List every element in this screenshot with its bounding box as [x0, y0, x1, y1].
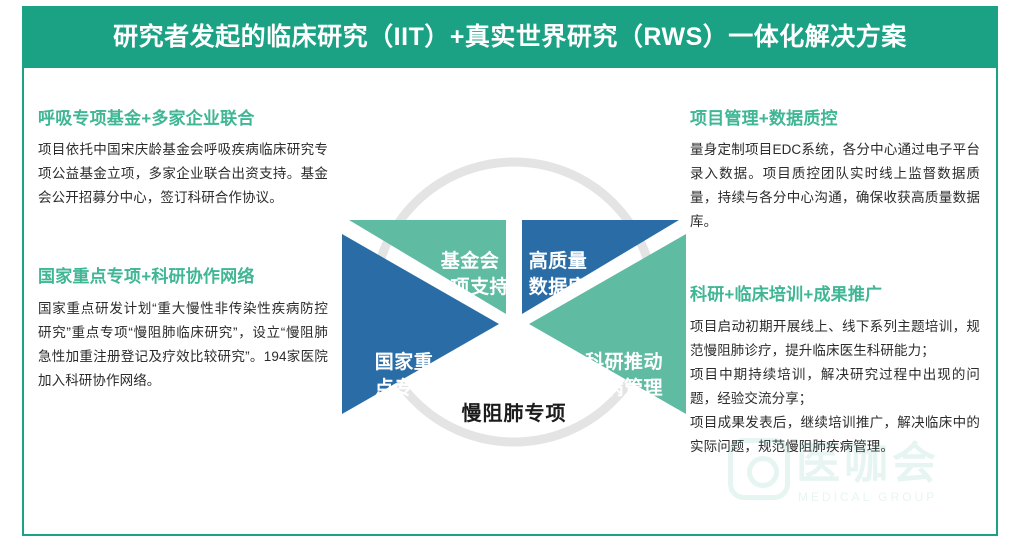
block-body: 项目启动初期开展线上、线下系列主题培训，规范慢阻肺诊疗，提升临床医生科研能力； … [690, 315, 980, 459]
infographic-frame: 研究者发起的临床研究（IIT）+真实世界研究（RWS）一体化解决方案 呼吸专项基… [22, 6, 998, 536]
right-text-column: 项目管理+数据质控 量身定制项目EDC系统，各分中心通过电子平台录入数据。项目质… [690, 68, 980, 485]
wedge-label-line-2: 疾病管理 [585, 376, 663, 399]
wedge-label-line-2: 点专项 [375, 376, 434, 399]
header-band: 研究者发起的临床研究（IIT）+真实世界研究（RWS）一体化解决方案 [22, 6, 998, 68]
page-title: 研究者发起的临床研究（IIT）+真实世界研究（RWS）一体化解决方案 [113, 25, 907, 50]
wedge-label-line-2: 数据库 [529, 275, 588, 298]
info-block-project-management: 项目管理+数据质控 量身定制项目EDC系统，各分中心通过电子平台录入数据。项目质… [690, 108, 980, 234]
block-body: 国家重点研发计划“重大慢性非传染性疾病防控研究”重点专项“慢阻肺临床研究”，设立… [38, 297, 328, 393]
wedge-label-line-1: 高质量 [529, 249, 588, 272]
block-body: 项目依托中国宋庆龄基金会呼吸疾病临床研究专项公益基金立项，多家企业联合出资支持。… [38, 138, 328, 210]
body-area: 呼吸专项基金+多家企业联合 项目依托中国宋庆龄基金会呼吸疾病临床研究专项公益基金… [24, 68, 996, 534]
block-heading: 国家重点专项+科研协作网络 [38, 266, 328, 287]
wedge-label-line-1: 基金会 [440, 249, 500, 272]
block-heading: 项目管理+数据质控 [690, 108, 980, 129]
left-text-column: 呼吸专项基金+多家企业联合 项目依托中国宋庆龄基金会呼吸疾病临床研究专项公益基金… [38, 68, 328, 419]
info-block-national-key-project: 国家重点专项+科研协作网络 国家重点研发计划“重大慢性非传染性疾病防控研究”重点… [38, 266, 328, 392]
block-heading: 科研+临床培训+成果推广 [690, 284, 980, 305]
block-heading: 呼吸专项基金+多家企业联合 [38, 108, 328, 129]
info-block-training-promotion: 科研+临床培训+成果推广 项目启动初期开展线上、线下系列主题培训，规范慢阻肺诊疗… [690, 284, 980, 458]
wedge-label-line-1: 国家重 [375, 350, 434, 373]
hexagon-diagram: 基金会 立项支持 高质量 数据库 国家重 点专项 [334, 132, 694, 472]
wedge-label-line-1: 科研推动 [585, 350, 663, 373]
block-body: 量身定制项目EDC系统，各分中心通过电子平台录入数据。项目质控团队实时线上监督数… [690, 138, 980, 234]
diagram-center-label: 慢阻肺专项 [462, 401, 567, 425]
info-block-respiratory-fund: 呼吸专项基金+多家企业联合 项目依托中国宋庆龄基金会呼吸疾病临床研究专项公益基金… [38, 108, 328, 210]
